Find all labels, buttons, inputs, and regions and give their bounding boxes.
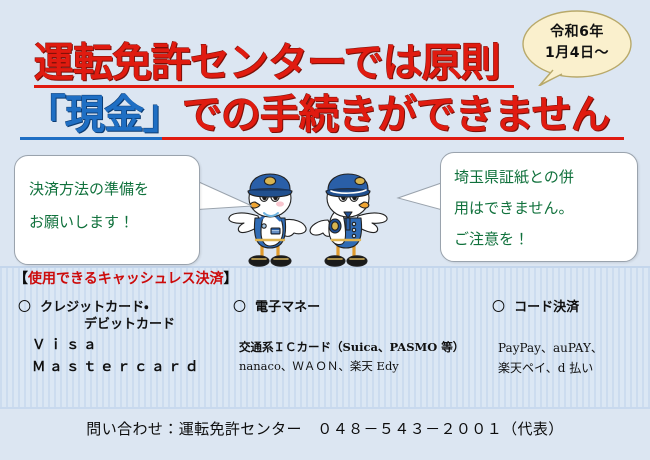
payment-column-emoney-title: 〇 電子マネー (233, 300, 464, 316)
speech-bubble-left: 決済方法の準備を お願いします！ (14, 155, 200, 265)
payment-column-code: 〇 コード決済 PayPay、auPAY、 楽天ペイ、d 払い (492, 300, 603, 378)
bubble-left-line-1: 決済方法の準備を (29, 173, 195, 206)
bullet-circle-icon: 〇 (233, 300, 246, 315)
contact-footer: 問い合わせ：運転免許センター ０４８－５４３－２００１（代表） (0, 418, 650, 439)
headline-line-2-underline-red (162, 137, 624, 140)
credit-title-text: クレジットカード・ (40, 300, 148, 315)
headline-line-2: 「現金」での手続きができません (0, 90, 650, 142)
bracket-open: 【 (14, 271, 28, 287)
speech-bubble-right-text: 埼玉県証紙との併 用はできません。 ご注意を！ (454, 162, 634, 255)
bullet-circle-icon: 〇 (492, 300, 505, 315)
cashless-section-header: 【使用できるキャッシュレス決済】 (14, 271, 237, 287)
credit-brand-mastercard: Ｍａｓｔｅｒｃａｒｄ (32, 356, 202, 378)
bubble-right-line-3: ご注意を！ (454, 224, 634, 255)
bullet-circle-icon: 〇 (18, 300, 31, 315)
credit-brand-visa: Ｖｉｓａ (32, 334, 202, 356)
headline-line-1-underline (34, 85, 514, 88)
bubble-right-line-1: 埼玉県証紙との併 (454, 162, 634, 193)
bracket-close: 】 (223, 271, 237, 287)
date-callout-text: 令和6年 1月4日〜 (513, 22, 641, 64)
credit-subtitle: デビットカード (84, 316, 202, 334)
bubble-left-line-2: お願いします！ (29, 206, 195, 239)
code-item-line-2: 楽天ペイ、d 払い (498, 358, 603, 378)
payment-column-code-title: 〇 コード決済 (492, 300, 603, 316)
headline-cash-term: 「現金」 (26, 90, 182, 140)
date-line-1: 令和6年 (513, 22, 641, 43)
cashless-header-inner: 使用できるキャッシュレス決済 (28, 271, 223, 287)
date-line-2: 1月4日〜 (513, 43, 641, 64)
mascot-right (310, 174, 387, 266)
code-title-text: コード決済 (514, 300, 579, 315)
speech-bubble-right: 埼玉県証紙との併 用はできません。 ご注意を！ (440, 152, 638, 262)
bubble-right-line-2: 用はできません。 (454, 193, 634, 224)
headline-line-2-text: での手続きができません (182, 90, 610, 140)
headline-line-2-underline-blue (20, 137, 162, 140)
stripe-band-bottom-edge (0, 407, 650, 409)
headline-line-1-text: 運転免許センターでは原則 (34, 38, 500, 88)
poster-canvas: 令和6年 1月4日〜 運転免許センターでは原則 「現金」での手続きができません … (0, 0, 650, 460)
emoney-title-text: 電子マネー (255, 300, 320, 315)
emoney-item-transit-ic: 交通系ＩＣカード（Suica、PASMO 等） (239, 338, 464, 357)
emoney-item-brands: nanaco、ＷＡＯＮ、楽天 Edy (239, 357, 464, 376)
payment-column-emoney: 〇 電子マネー 交通系ＩＣカード（Suica、PASMO 等） nanaco、Ｗ… (233, 300, 464, 376)
date-callout-bubble: 令和6年 1月4日〜 (513, 8, 641, 86)
payment-column-credit: 〇 クレジットカード・ デビットカード Ｖｉｓａ Ｍａｓｔｅｒｃａｒｄ (18, 300, 202, 378)
code-item-line-1: PayPay、auPAY、 (498, 338, 603, 358)
speech-bubble-left-text: 決済方法の準備を お願いします！ (29, 173, 195, 239)
payment-column-credit-title: 〇 クレジットカード・ (18, 300, 202, 316)
